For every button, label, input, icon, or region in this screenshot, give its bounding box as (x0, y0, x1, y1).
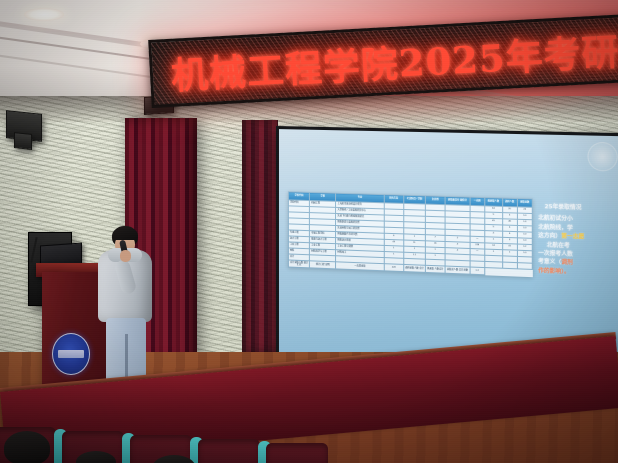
seal-band (58, 350, 84, 358)
audience-head (4, 431, 50, 463)
auditorium-photo: 机械工程学院2025年考研经 学院代码 学院 专业 研究方向 考试科目 / 学制… (0, 0, 618, 463)
presenter-hand (120, 250, 131, 262)
audience-seat (266, 443, 328, 463)
university-seal-icon (52, 333, 90, 375)
presenter-fringe (112, 228, 138, 240)
wall-speaker-bracket (14, 132, 32, 150)
stage-curtain-right (242, 120, 278, 352)
wall-top-shadow (0, 96, 618, 122)
audience-row (0, 418, 330, 463)
audience-seat (198, 439, 260, 463)
presenter (96, 226, 156, 396)
